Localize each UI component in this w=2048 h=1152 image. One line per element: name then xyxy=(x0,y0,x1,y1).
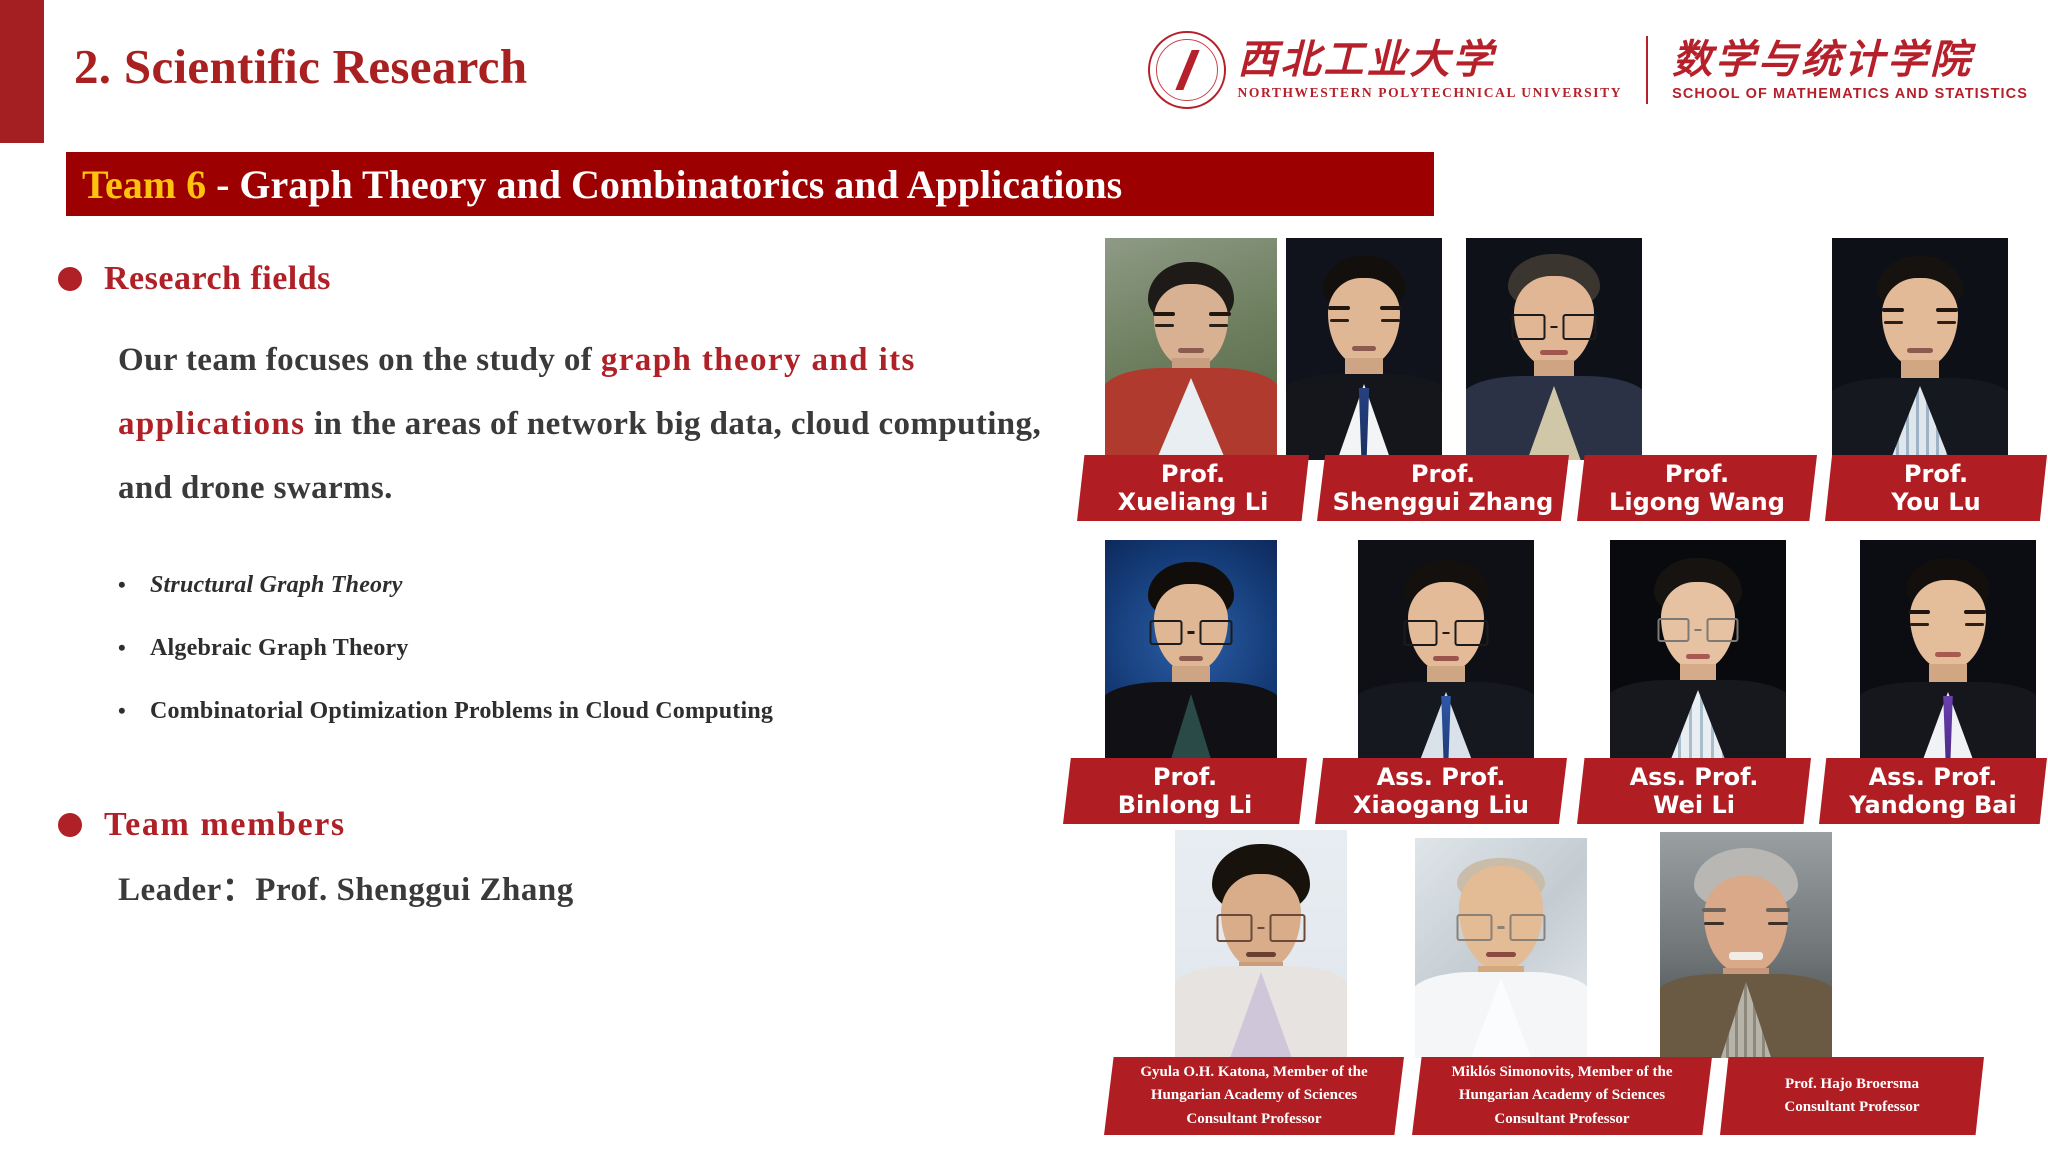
research-fields-paragraph: Our team focuses on the study of graph t… xyxy=(118,328,1098,520)
team-leader-line: Leader：Prof. Shenggui Zhang xyxy=(118,862,574,910)
team-members-label: Team members xyxy=(104,806,346,844)
logo-divider xyxy=(1646,36,1648,104)
name-banner: Prof. Xueliang Li xyxy=(1077,455,1309,521)
consultant-line-3: Consultant Professor xyxy=(1186,1108,1321,1131)
university-name-en: NORTHWESTERN POLYTECHNICAL UNIVERSITY xyxy=(1238,85,1623,101)
paragraph-part1: Our team focuses on the study of xyxy=(118,342,601,378)
consultant-line-2: Hungarian Academy of Sciences xyxy=(1459,1084,1665,1107)
person-title: Prof. xyxy=(1153,763,1217,791)
person-title: Prof. xyxy=(1411,460,1475,488)
list-bullet-icon: • xyxy=(118,637,126,659)
consultant-line-1: Miklós Simonovits, Member of the xyxy=(1452,1061,1673,1084)
research-subtopic-list: • Structural Graph Theory • Algebraic Gr… xyxy=(118,572,1018,761)
person-name: Binlong Li xyxy=(1118,791,1252,819)
list-bullet-icon: • xyxy=(118,700,126,722)
consultant-line-3: Consultant Professor xyxy=(1494,1108,1629,1131)
consultant-line-1: Gyula O.H. Katona, Member of the xyxy=(1140,1061,1367,1084)
team-title-text: Team 6 - Graph Theory and Combinatorics … xyxy=(66,161,1122,208)
portrait-photo xyxy=(1832,238,2008,460)
consultant-line-2: Hungarian Academy of Sciences xyxy=(1151,1084,1357,1107)
portrait-photo xyxy=(1860,540,2036,762)
team-title-band: Team 6 - Graph Theory and Combinatorics … xyxy=(66,152,1434,216)
portrait-photo xyxy=(1175,830,1347,1058)
page-title: 2. Scientific Research xyxy=(74,38,527,95)
npu-seal-icon xyxy=(1148,31,1226,109)
person-title: Ass. Prof. xyxy=(1377,763,1506,791)
list-item-label: Combinatorial Optimization Problems in C… xyxy=(150,698,773,725)
name-banner: Prof. You Lu xyxy=(1825,455,2047,521)
bullet-dot-icon xyxy=(58,267,82,291)
school-name-cn: 数学与统计学院 xyxy=(1672,39,2028,81)
name-banner: Prof. Ligong Wang xyxy=(1577,455,1817,521)
portrait-photo xyxy=(1105,238,1277,460)
consultant-banner: Gyula O.H. Katona, Member of the Hungari… xyxy=(1104,1057,1404,1135)
person-title: Ass. Prof. xyxy=(1869,763,1998,791)
name-banner: Ass. Prof. Yandong Bai xyxy=(1819,758,2047,824)
paragraph-part2: in the areas of network big data, cloud xyxy=(305,406,870,442)
list-item-label: Algebraic Graph Theory xyxy=(150,635,409,662)
person-name: Wei Li xyxy=(1653,791,1735,819)
portrait-photo xyxy=(1610,540,1786,762)
person-name: Shenggui Zhang xyxy=(1333,488,1554,516)
school-name-en: SCHOOL OF MATHEMATICS AND STATISTICS xyxy=(1672,86,2028,102)
list-item: • Structural Graph Theory xyxy=(118,572,1018,599)
portrait-photo xyxy=(1466,238,1642,460)
consultant-banner: Prof. Hajo Broersma Consultant Professor xyxy=(1720,1057,1984,1135)
team-number: Team 6 xyxy=(82,162,206,207)
person-name: You Lu xyxy=(1891,488,1980,516)
person-name: Xiaogang Liu xyxy=(1353,791,1529,819)
portrait-photo xyxy=(1660,832,1832,1058)
consultant-banner: Miklós Simonovits, Member of the Hungari… xyxy=(1412,1057,1712,1135)
research-fields-label: Research fields xyxy=(104,260,331,298)
portrait-photo xyxy=(1286,238,1442,460)
left-accent-bar xyxy=(0,0,44,143)
list-item: • Combinatorial Optimization Problems in… xyxy=(118,698,1018,725)
list-item-label: Structural Graph Theory xyxy=(150,572,403,599)
university-name-cn: 西北工业大学 xyxy=(1238,39,1623,81)
school-name-block: 数学与统计学院 SCHOOL OF MATHEMATICS AND STATIS… xyxy=(1672,39,2028,102)
team-dash: - xyxy=(206,162,239,207)
portrait-photo xyxy=(1415,838,1587,1058)
university-logo: 西北工业大学 NORTHWESTERN POLYTECHNICAL UNIVER… xyxy=(1148,22,2028,118)
paragraph-highlight1: graph theory and its xyxy=(601,342,916,378)
team-members-heading: Team members xyxy=(58,806,346,844)
consultant-line-2: Consultant Professor xyxy=(1784,1096,1919,1119)
list-bullet-icon: • xyxy=(118,574,126,596)
list-item: • Algebraic Graph Theory xyxy=(118,635,1018,662)
consultant-line-1: Prof. Hajo Broersma xyxy=(1785,1073,1919,1096)
name-banner: Prof. Binlong Li xyxy=(1063,758,1307,824)
name-banner: Ass. Prof. Xiaogang Liu xyxy=(1315,758,1567,824)
person-title: Prof. xyxy=(1904,460,1968,488)
person-name: Xueliang Li xyxy=(1118,488,1269,516)
university-name-block: 西北工业大学 NORTHWESTERN POLYTECHNICAL UNIVER… xyxy=(1238,39,1623,101)
paragraph-highlight2: applications xyxy=(118,406,305,442)
slide-root: 2. Scientific Research 西北工业大学 NORTHWESTE… xyxy=(0,0,2048,1152)
portrait-photo xyxy=(1358,540,1534,762)
name-banner: Ass. Prof. Wei Li xyxy=(1577,758,1811,824)
person-name: Yandong Bai xyxy=(1849,791,2016,819)
name-banner: Prof. Shenggui Zhang xyxy=(1317,455,1569,521)
person-title: Ass. Prof. xyxy=(1630,763,1759,791)
bullet-dot-icon xyxy=(58,813,82,837)
person-name: Ligong Wang xyxy=(1609,488,1785,516)
team-title: Graph Theory and Combinatorics and Appli… xyxy=(239,162,1122,207)
person-title: Prof. xyxy=(1161,460,1225,488)
portrait-photo xyxy=(1105,540,1277,762)
person-title: Prof. xyxy=(1665,460,1729,488)
research-fields-heading: Research fields xyxy=(58,260,331,298)
